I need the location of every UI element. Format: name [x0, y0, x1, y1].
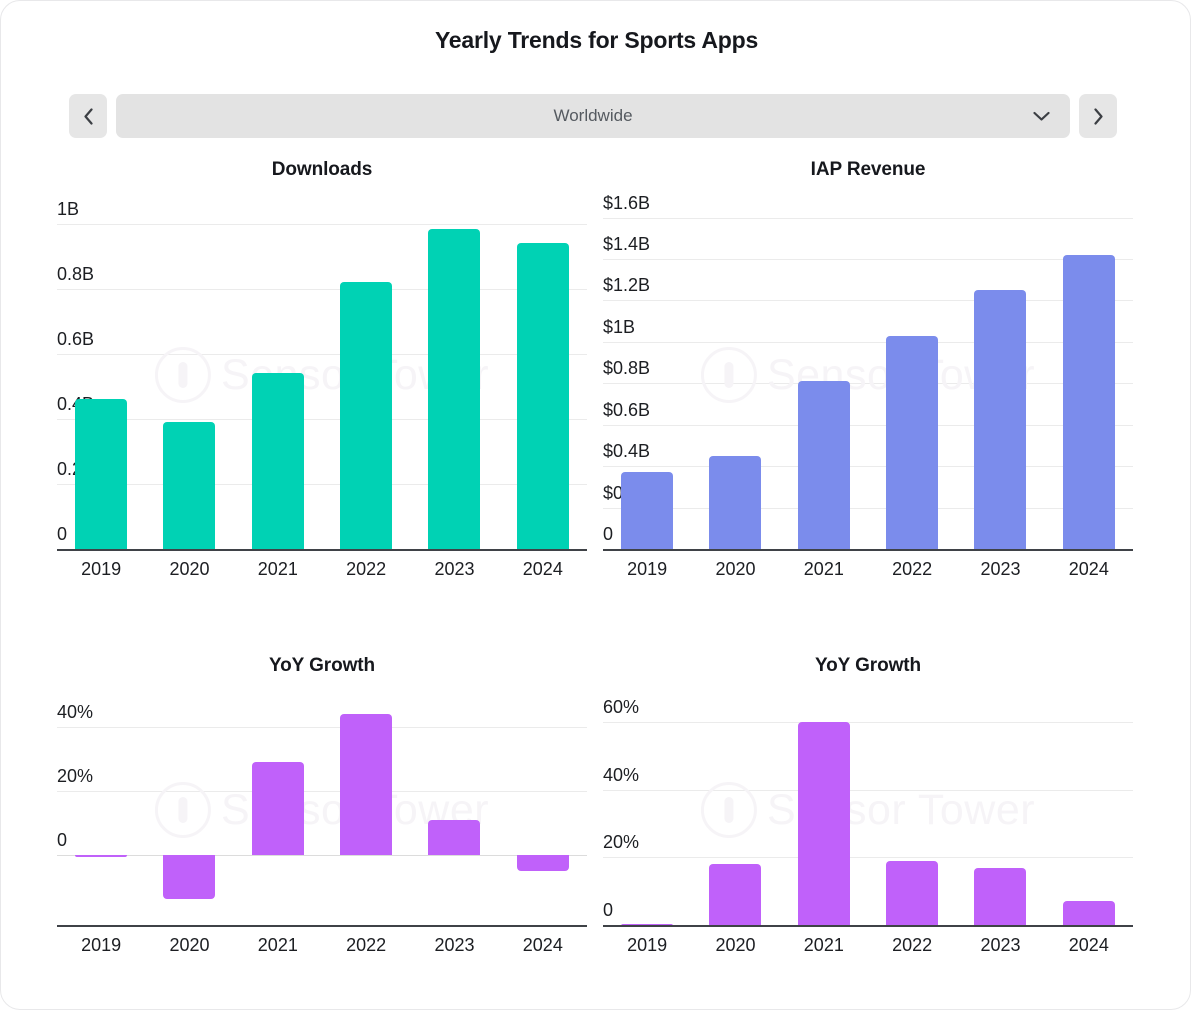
- bar-slot[interactable]: [499, 201, 587, 549]
- bar[interactable]: [340, 282, 392, 549]
- x-axis-labels: 201920202021202220232024: [57, 559, 587, 580]
- x-axis-tick-label: 2021: [234, 935, 322, 956]
- bar[interactable]: [428, 229, 480, 549]
- bar-slot[interactable]: [691, 695, 779, 925]
- chart-panel-downloads: Downloads 00.2B0.4B0.6B0.8B1BSensor Towe…: [57, 159, 587, 609]
- bar[interactable]: [517, 855, 569, 871]
- bar-slot[interactable]: [868, 695, 956, 925]
- bar-slot[interactable]: [1045, 695, 1133, 925]
- chart-title: YoY Growth: [57, 655, 587, 677]
- bar[interactable]: [163, 422, 215, 549]
- bar[interactable]: [1063, 255, 1115, 549]
- bar[interactable]: [517, 243, 569, 549]
- x-axis-tick-label: 2020: [145, 559, 233, 580]
- bar-slot[interactable]: [956, 695, 1044, 925]
- chart-panel-downloads-yoy: YoY Growth 020%40%Sensor Tower2019202020…: [57, 655, 587, 985]
- x-axis-tick-label: 2024: [1045, 935, 1133, 956]
- chevron-left-icon: [83, 108, 94, 125]
- bar-slot[interactable]: [780, 201, 868, 549]
- x-axis-tick-label: 2020: [691, 559, 779, 580]
- bar-series: [603, 201, 1133, 549]
- bar-slot[interactable]: [1045, 201, 1133, 549]
- x-axis-tick-label: 2019: [603, 935, 691, 956]
- bar[interactable]: [252, 762, 304, 855]
- x-axis-line: [57, 925, 587, 927]
- x-axis-line: [603, 549, 1133, 551]
- bar[interactable]: [621, 472, 673, 549]
- bar-slot[interactable]: [145, 695, 233, 925]
- bar-slot[interactable]: [956, 201, 1044, 549]
- bar[interactable]: [428, 820, 480, 855]
- bar[interactable]: [798, 381, 850, 549]
- bar-slot[interactable]: [57, 695, 145, 925]
- x-axis-tick-label: 2019: [57, 935, 145, 956]
- page-title: Yearly Trends for Sports Apps: [1, 27, 1191, 54]
- x-axis-tick-label: 2023: [956, 935, 1044, 956]
- chart-panel-iap-revenue: IAP Revenue 0$0.2B$0.4B$0.6B$0.8B$1B$1.2…: [603, 159, 1133, 609]
- x-axis-tick-label: 2023: [410, 559, 498, 580]
- bar[interactable]: [1063, 901, 1115, 925]
- x-axis-tick-label: 2022: [322, 935, 410, 956]
- x-axis-tick-label: 2019: [57, 559, 145, 580]
- bar[interactable]: [886, 336, 938, 549]
- bar[interactable]: [709, 456, 761, 549]
- bar-slot[interactable]: [322, 201, 410, 549]
- x-axis-tick-label: 2021: [780, 935, 868, 956]
- bar[interactable]: [974, 868, 1026, 926]
- bar[interactable]: [340, 714, 392, 855]
- x-axis-tick-label: 2021: [780, 559, 868, 580]
- x-axis-tick-label: 2022: [868, 559, 956, 580]
- bar[interactable]: [798, 722, 850, 925]
- bar-slot[interactable]: [410, 695, 498, 925]
- plot-area: 020%40%60%Sensor Tower201920202021202220…: [603, 695, 1133, 985]
- next-region-button[interactable]: [1079, 94, 1117, 138]
- prev-region-button[interactable]: [69, 94, 107, 138]
- charts-grid: Downloads 00.2B0.4B0.6B0.8B1BSensor Towe…: [1, 159, 1191, 999]
- region-select-value: Worldwide: [553, 106, 632, 126]
- x-axis-line: [57, 549, 587, 551]
- bar[interactable]: [75, 855, 127, 857]
- bar[interactable]: [886, 861, 938, 925]
- x-axis-tick-label: 2024: [1045, 559, 1133, 580]
- x-axis-line: [603, 925, 1133, 927]
- chart-title: Downloads: [57, 159, 587, 181]
- x-axis-tick-label: 2023: [956, 559, 1044, 580]
- plot-area: 020%40%Sensor Tower201920202021202220232…: [57, 695, 587, 985]
- x-axis-tick-label: 2020: [145, 935, 233, 956]
- x-axis-tick-label: 2019: [603, 559, 691, 580]
- x-axis-tick-label: 2020: [691, 935, 779, 956]
- plot-area: 0$0.2B$0.4B$0.6B$0.8B$1B$1.2B$1.4B$1.6BS…: [603, 201, 1133, 609]
- bar-series: [57, 695, 587, 925]
- chevron-down-icon[interactable]: [1033, 111, 1050, 122]
- chart-title: IAP Revenue: [603, 159, 1133, 181]
- bar[interactable]: [163, 855, 215, 900]
- chart-title: YoY Growth: [603, 655, 1133, 677]
- bar-slot[interactable]: [603, 695, 691, 925]
- x-axis-labels: 201920202021202220232024: [603, 559, 1133, 580]
- x-axis-tick-label: 2022: [868, 935, 956, 956]
- region-select[interactable]: Worldwide: [116, 94, 1070, 138]
- bar-slot[interactable]: [691, 201, 779, 549]
- bar-slot[interactable]: [145, 201, 233, 549]
- bar-series: [57, 201, 587, 549]
- bar-slot[interactable]: [603, 201, 691, 549]
- bar-slot[interactable]: [780, 695, 868, 925]
- x-axis-tick-label: 2021: [234, 559, 322, 580]
- trends-card: Yearly Trends for Sports Apps Worldwide: [0, 0, 1191, 1010]
- bar-slot[interactable]: [234, 201, 322, 549]
- bar-slot[interactable]: [57, 201, 145, 549]
- bar-slot[interactable]: [499, 695, 587, 925]
- bar[interactable]: [709, 864, 761, 925]
- bar-series: [603, 695, 1133, 925]
- x-axis-tick-label: 2024: [499, 559, 587, 580]
- chart-panel-revenue-yoy: YoY Growth 020%40%60%Sensor Tower2019202…: [603, 655, 1133, 985]
- x-axis-labels: 201920202021202220232024: [57, 935, 587, 956]
- region-selector-row: Worldwide: [69, 94, 1117, 138]
- x-axis-labels: 201920202021202220232024: [603, 935, 1133, 956]
- bar-slot[interactable]: [410, 201, 498, 549]
- bar[interactable]: [75, 399, 127, 549]
- bar-slot[interactable]: [322, 695, 410, 925]
- x-axis-tick-label: 2022: [322, 559, 410, 580]
- x-axis-tick-label: 2023: [410, 935, 498, 956]
- bar-slot[interactable]: [234, 695, 322, 925]
- chevron-right-icon: [1093, 108, 1104, 125]
- x-axis-tick-label: 2024: [499, 935, 587, 956]
- bar[interactable]: [252, 373, 304, 549]
- bar[interactable]: [974, 290, 1026, 549]
- plot-area: 00.2B0.4B0.6B0.8B1BSensor Tower201920202…: [57, 201, 587, 609]
- bar-slot[interactable]: [868, 201, 956, 549]
